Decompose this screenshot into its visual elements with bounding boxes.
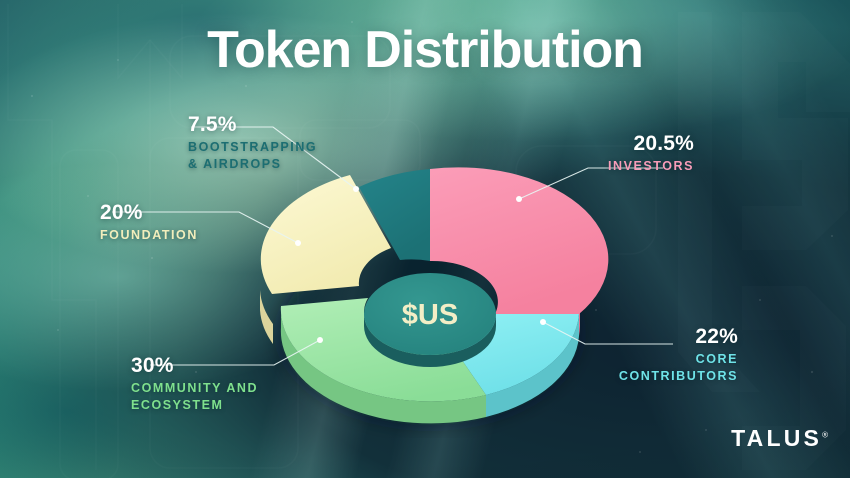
leader-dot-bootstrapping [353,186,359,192]
leader-dot-community [317,337,323,343]
trademark-symbol: ® [822,430,828,439]
talus-logo: TALUS® [731,425,828,452]
token-distribution-infographic: Token Distribution [0,0,850,478]
callout-community-line1: COMMUNITY AND [131,380,258,397]
callout-core-caption: CORE CONTRIBUTORS [619,351,738,384]
callout-community-line2: ECOSYSTEM [131,397,258,414]
callout-foundation: 20% FOUNDATION [100,202,198,244]
callout-bootstrapping-line1: BOOTSTRAPPING [188,139,317,156]
callout-core-line2: CONTRIBUTORS [619,368,738,385]
leader-dot-investors [516,196,522,202]
callout-investors-caption: INVESTORS [608,158,694,175]
callout-bootstrapping-caption: BOOTSTRAPPING & AIRDROPS [188,139,317,172]
talus-logo-text: TALUS [731,425,822,451]
callout-bootstrapping: 7.5% BOOTSTRAPPING & AIRDROPS [188,114,317,172]
callout-community-pct: 30% [131,355,258,377]
callout-foundation-caption: FOUNDATION [100,227,198,244]
callout-core-pct: 22% [619,326,738,348]
callout-community: 30% COMMUNITY AND ECOSYSTEM [131,355,258,413]
callout-foundation-line1: FOUNDATION [100,227,198,244]
callout-core-contributors: 22% CORE CONTRIBUTORS [619,326,738,384]
callout-bootstrapping-pct: 7.5% [188,114,317,136]
leader-dot-foundation [295,240,301,246]
callout-core-line1: CORE [619,351,738,368]
callout-investors-pct: 20.5% [608,133,694,155]
callout-investors-line1: INVESTORS [608,158,694,175]
callout-investors: 20.5% INVESTORS [608,133,694,175]
callout-foundation-pct: 20% [100,202,198,224]
callout-community-caption: COMMUNITY AND ECOSYSTEM [131,380,258,413]
callout-bootstrapping-line2: & AIRDROPS [188,156,317,173]
leader-dot-core [540,319,546,325]
